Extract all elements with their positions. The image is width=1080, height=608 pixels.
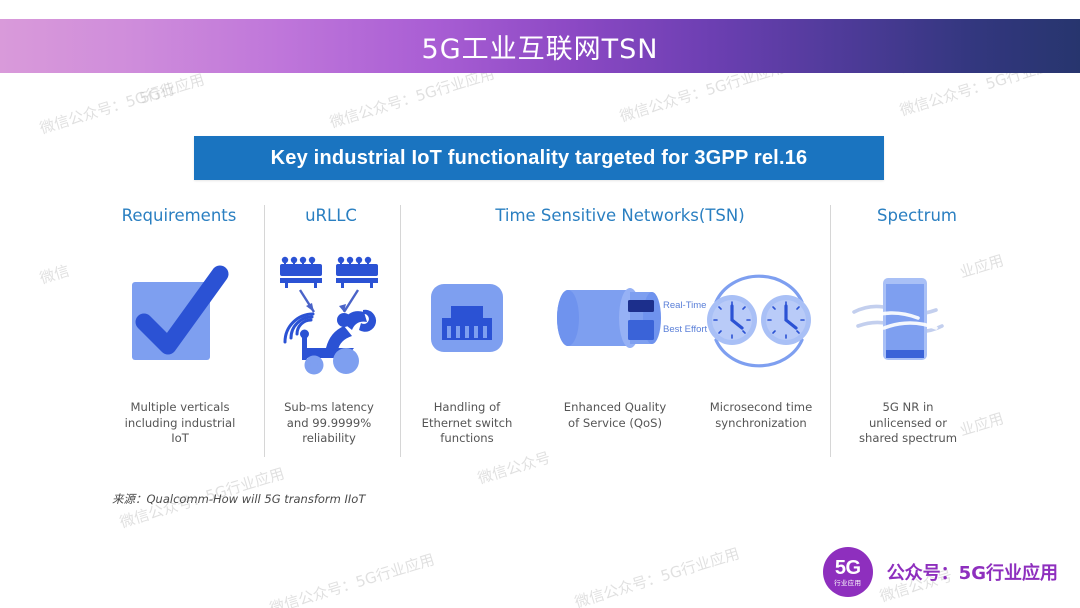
caption-line: shared spectrum xyxy=(840,431,976,447)
robot-wireless-icon xyxy=(264,248,394,388)
slide-title-band: 5G工业互联网TSN xyxy=(0,19,1080,73)
caption-ethernet: Handling of Ethernet switch functions xyxy=(404,400,530,447)
source-note: 来源：Qualcomm-How will 5G transform IIoT xyxy=(112,491,365,507)
caption-qos: Enhanced Quality of Service (QoS) xyxy=(544,400,686,431)
watermark-text: 微信公众号：5G行业应用 xyxy=(267,548,437,608)
column-header-row: Requirements uRLLC Time Sensitive Networ… xyxy=(0,206,1080,240)
page-title: 5G工业互联网TSN xyxy=(422,27,659,66)
watermark-text: 5G行 xyxy=(137,78,178,109)
caption-line: functions xyxy=(404,431,530,447)
icon-cell-spectrum xyxy=(840,248,970,388)
smartphone-spectrum-icon xyxy=(840,248,970,388)
caption-spectrum: 5G NR in unlicensed or shared spectrum xyxy=(840,400,976,447)
column-header-urllc: uRLLC xyxy=(268,206,394,225)
slide-root: 5G工业互联网TSN Key industrial IoT functional… xyxy=(0,0,1080,608)
icon-cell-ethernet xyxy=(402,248,532,388)
caption-line: Handling of xyxy=(404,400,530,416)
icon-cell-clock-sync xyxy=(694,248,824,388)
column-divider-2 xyxy=(400,205,401,457)
caption-line: Multiple verticals xyxy=(114,400,246,416)
watermark-text: 微信公众号：5G行业应用 xyxy=(37,68,207,138)
section-banner: Key industrial IoT functionality targete… xyxy=(194,136,884,180)
caption-line: reliability xyxy=(266,431,392,447)
watermark-text: 微信公众号 xyxy=(475,447,553,489)
caption-line: and 99.9999% xyxy=(266,416,392,432)
brand-logo-icon: 5G 行业应用 xyxy=(823,547,873,597)
section-banner-label: Key industrial IoT functionality targete… xyxy=(271,147,808,170)
icon-cell-urllc xyxy=(264,248,394,388)
column-header-spectrum: Spectrum xyxy=(850,206,984,225)
caption-line: IoT xyxy=(114,431,246,447)
caption-line: Microsecond time xyxy=(692,400,830,416)
ethernet-port-icon xyxy=(402,248,532,388)
caption-requirements: Multiple verticals including industrial … xyxy=(114,400,246,447)
icon-cell-requirements xyxy=(114,248,244,388)
caption-urllc: Sub-ms latency and 99.9999% reliability xyxy=(266,400,392,447)
caption-line: synchronization xyxy=(692,416,830,432)
caption-line: unlicensed or xyxy=(840,416,976,432)
watermark-text: 微信公众号：5G行业应用 xyxy=(572,542,742,608)
checkbox-check-icon xyxy=(114,248,244,388)
column-header-tsn: Time Sensitive Networks(TSN) xyxy=(420,206,820,225)
brand-logo-sub: 行业应用 xyxy=(834,580,861,587)
caption-line: of Service (QoS) xyxy=(544,416,686,432)
caption-line: 5G NR in xyxy=(840,400,976,416)
footer-brand-text: 公众号：5G行业应用 xyxy=(887,559,1058,585)
brand-logo-main: 5G xyxy=(835,558,861,578)
caption-line: Enhanced Quality xyxy=(544,400,686,416)
column-divider-3 xyxy=(830,205,831,457)
watermark-text: 微信 xyxy=(37,260,72,289)
caption-clock-sync: Microsecond time synchronization xyxy=(692,400,830,431)
caption-line: Sub-ms latency xyxy=(266,400,392,416)
column-header-requirements: Requirements xyxy=(108,206,250,225)
clock-sync-icon xyxy=(694,248,824,388)
footer-brand: 5G 行业应用 公众号：5G行业应用 xyxy=(823,546,1058,598)
caption-line: including industrial xyxy=(114,416,246,432)
caption-line: Ethernet switch xyxy=(404,416,530,432)
